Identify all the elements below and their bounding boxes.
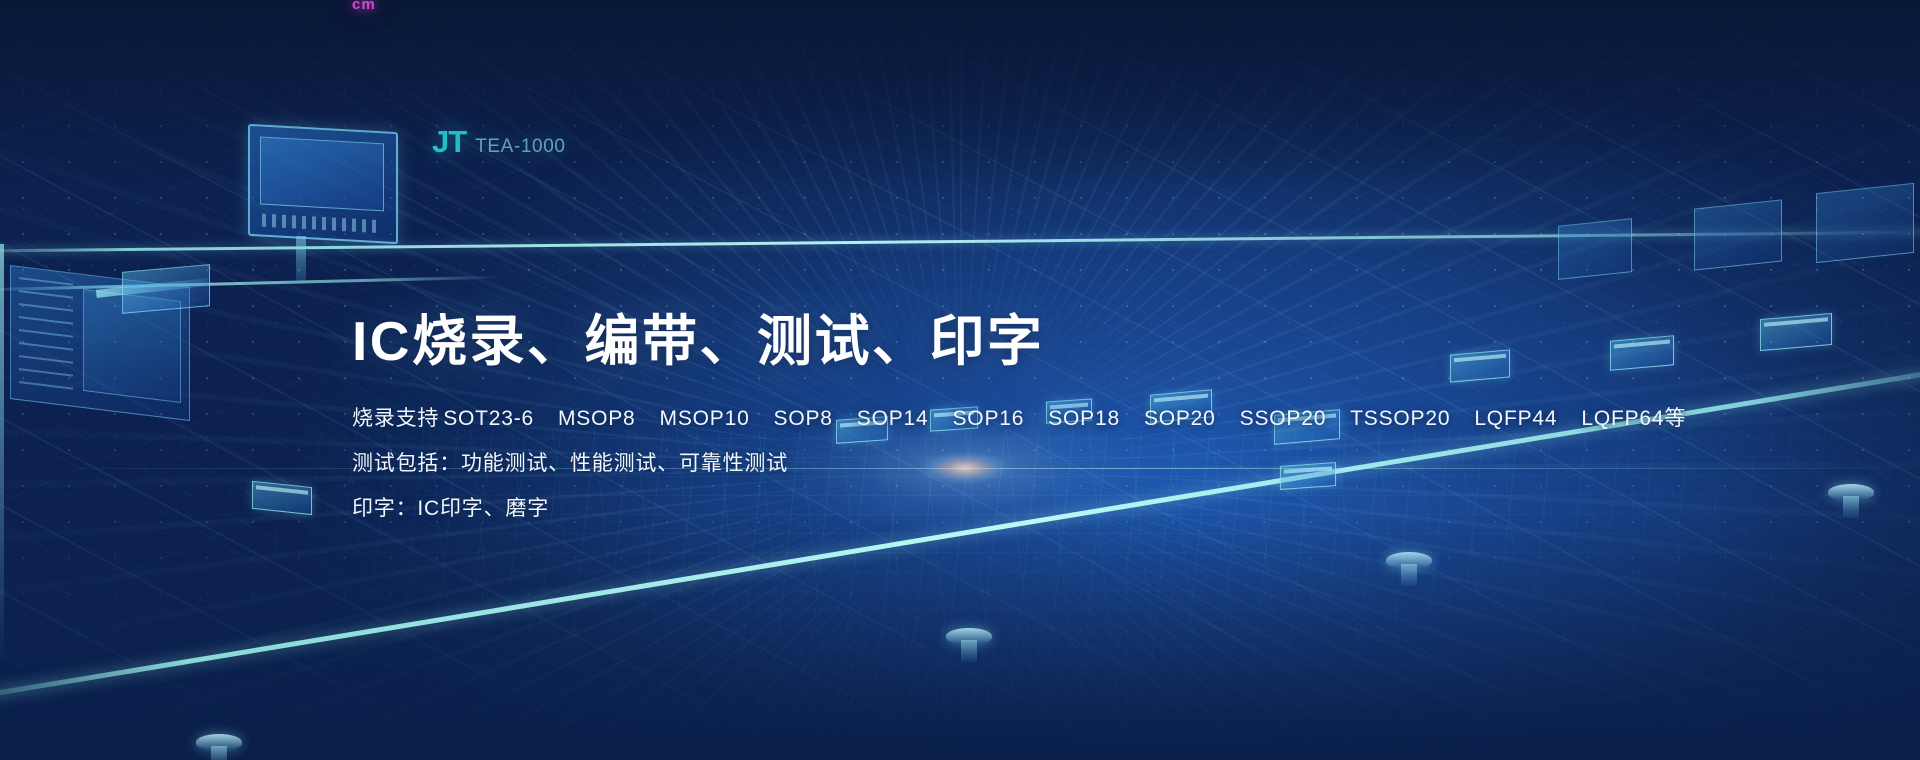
left-wall-edge [0, 244, 4, 664]
monitor-screen [260, 136, 384, 211]
equipment-rack [1816, 183, 1914, 263]
overhead-unit-label: cm [352, 0, 376, 13]
conveyor-pedestal [946, 628, 992, 644]
banner-content: IC烧录、编带、测试、印字 烧录支持 SOT23-6 MSOP8 MSOP10 … [352, 310, 1612, 519]
marking-scope-line: 印字：IC印字、磨字 [352, 498, 1612, 519]
conveyor-pedestal [196, 734, 242, 750]
package-type: MSOP10 [660, 408, 750, 429]
conveyor-tray [1760, 313, 1832, 351]
package-type: SOT23-6 [443, 408, 534, 429]
package-type: SOP14 [857, 408, 929, 429]
package-type: MSOP8 [558, 408, 636, 429]
banner-subtitle-list: 烧录支持 SOT23-6 MSOP8 MSOP10 SOP8 SOP14 SOP… [352, 408, 1612, 519]
package-type: LQFP44 [1474, 408, 1557, 429]
conveyor-pedestal [1386, 552, 1432, 568]
packaging-support-line: 烧录支持 SOT23-6 MSOP8 MSOP10 SOP8 SOP14 SOP… [352, 408, 1612, 429]
package-type: SOP20 [1144, 408, 1216, 429]
conveyor-pedestal [1828, 484, 1874, 500]
testing-scope-line: 测试包括：功能测试、性能测试、可靠性测试 [352, 453, 1612, 474]
conveyor-tray [1610, 335, 1674, 371]
factory-monitor-icon [248, 124, 398, 244]
equipment-rack [1694, 199, 1782, 270]
packaging-lead-label: 烧录支持 [352, 408, 439, 429]
equipment-logo-brand: JT [432, 126, 466, 157]
equipment-logo: JT TEA-1000 [432, 126, 566, 157]
hero-banner: cm JT TEA-1000 IC烧录、编带、测试、印字 烧录支持 SOT23-… [0, 0, 1920, 760]
monitor-keypad [262, 214, 380, 234]
package-type: SOP18 [1048, 408, 1120, 429]
banner-headline: IC烧录、编带、测试、印字 [352, 310, 1612, 374]
monitor-stand [296, 236, 306, 282]
package-type: SSOP20 [1240, 408, 1327, 429]
equipment-logo-model: TEA-1000 [475, 137, 565, 156]
handler-head [122, 264, 210, 314]
package-type: TSSOP20 [1350, 408, 1450, 429]
equipment-rack [1558, 218, 1632, 280]
package-type: LQFP64等 [1581, 408, 1686, 429]
package-type: SOP16 [953, 408, 1025, 429]
package-type: SOP8 [774, 408, 833, 429]
